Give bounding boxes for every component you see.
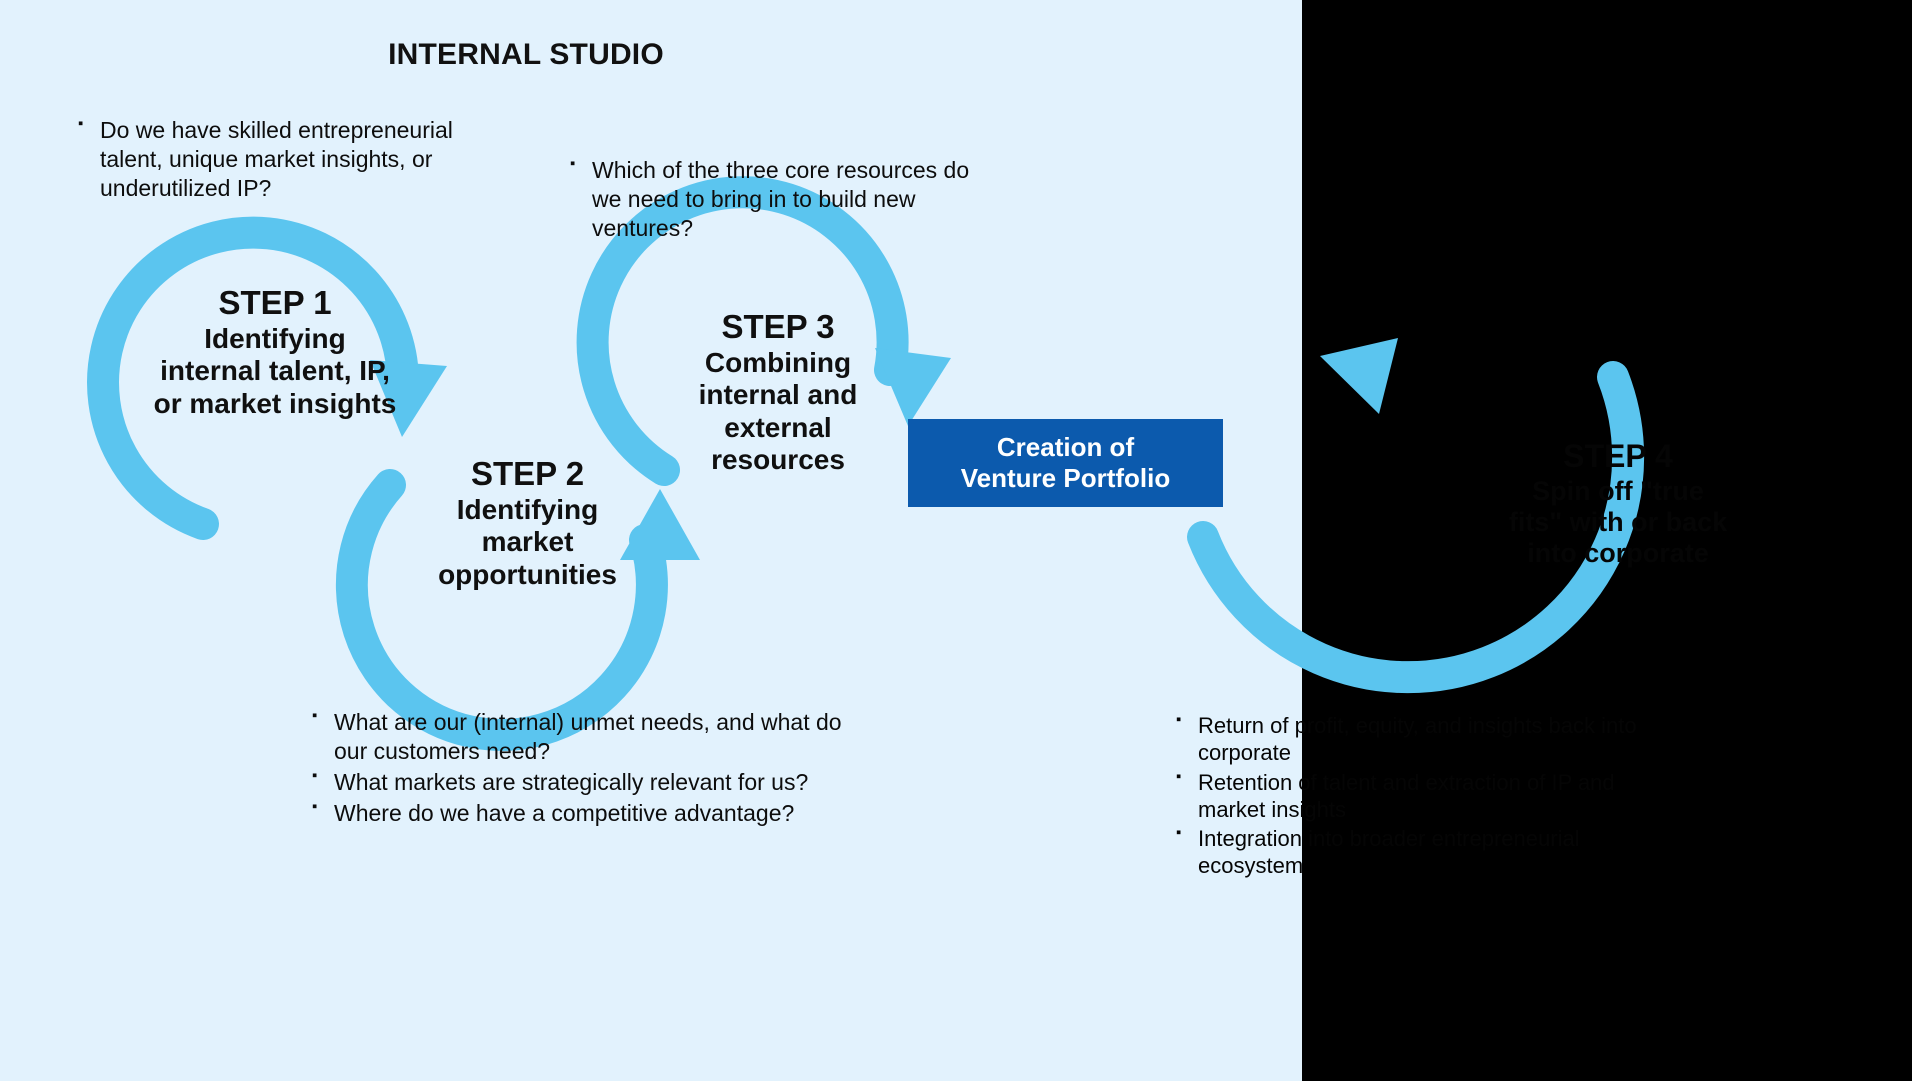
step-1-label: STEP 1 Identifying internal talent, IP, … bbox=[150, 284, 400, 420]
step-2-number: STEP 2 bbox=[420, 455, 635, 494]
list-item: Do we have skilled entrepreneurial talen… bbox=[78, 116, 498, 203]
step-4-label: STEP 4 Spin off "true fits" with or back… bbox=[1508, 438, 1728, 570]
step-2-description: Identifying market opportunities bbox=[420, 494, 635, 591]
list-item: Which of the three core resources do we … bbox=[570, 156, 990, 243]
list-item: What are our (internal) unmet needs, and… bbox=[312, 708, 872, 766]
step4-outcome-list: Return of profit, equity, and insights b… bbox=[1176, 712, 1646, 882]
list-item: Return of profit, equity, and insights b… bbox=[1176, 712, 1646, 767]
step3-question-list: Which of the three core resources do we … bbox=[570, 156, 990, 245]
step1-question-list: Do we have skilled entrepreneurial talen… bbox=[78, 116, 498, 205]
step-3-description: Combining internal and external resource… bbox=[668, 347, 888, 477]
list-item: Retention of talent and extraction of IP… bbox=[1176, 769, 1646, 824]
list-item: Integration into broader entrepreneurial… bbox=[1176, 825, 1646, 880]
diagram-canvas: INTERNAL STUDIO Do we have skilled entre… bbox=[0, 0, 1912, 1081]
step-4-description: Spin off "true fits" with or back into c… bbox=[1508, 476, 1728, 570]
step-4-number: STEP 4 bbox=[1508, 438, 1728, 476]
step-2-label: STEP 2 Identifying market opportunities bbox=[420, 455, 635, 591]
page-title: INTERNAL STUDIO bbox=[0, 38, 1052, 72]
venture-portfolio-line2: Venture Portfolio bbox=[961, 463, 1170, 493]
list-item: Where do we have a competitive advantage… bbox=[312, 799, 872, 828]
step2-question-list: What are our (internal) unmet needs, and… bbox=[312, 708, 872, 830]
venture-portfolio-box: Creation of Venture Portfolio bbox=[908, 419, 1223, 507]
step-3-number: STEP 3 bbox=[668, 308, 888, 347]
step-1-description: Identifying internal talent, IP, or mark… bbox=[150, 323, 400, 420]
step4-arrowhead bbox=[1320, 338, 1398, 414]
venture-portfolio-line1: Creation of bbox=[997, 432, 1134, 462]
step-3-label: STEP 3 Combining internal and external r… bbox=[668, 308, 888, 477]
list-item: What markets are strategically relevant … bbox=[312, 768, 872, 797]
step-1-number: STEP 1 bbox=[150, 284, 400, 323]
